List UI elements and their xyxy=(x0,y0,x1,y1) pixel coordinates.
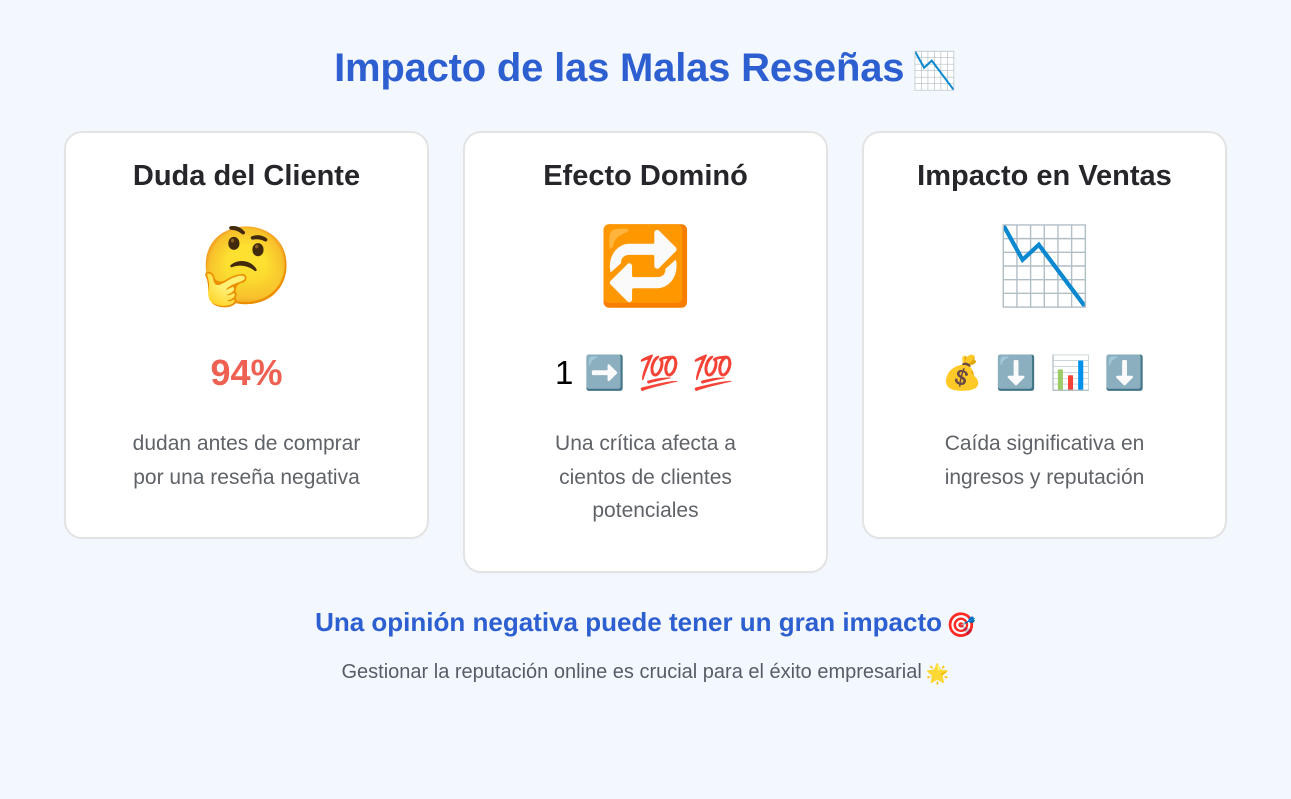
stat-number-emoji: 1 xyxy=(555,356,574,389)
footer-headline: Una opinión negativa puede tener un gran… xyxy=(315,607,976,641)
cards-row: Duda del Cliente 🤔 94% dudan antes de co… xyxy=(64,131,1227,573)
stat-emoji-row: 💰 ⬇️ 📊 ⬇️ xyxy=(942,356,1148,389)
card-stat: 1 ➡️ 💯 💯 xyxy=(555,347,736,399)
page-title: Impacto de las Malas Reseñas📉 xyxy=(334,0,957,92)
card-title: Impacto en Ventas xyxy=(917,159,1172,194)
stat-emoji-row: ➡️ 💯 💯 xyxy=(584,356,736,389)
page-title-text: Impacto de las Malas Reseñas xyxy=(334,46,904,90)
chart-decreasing-icon: 📉 xyxy=(997,221,1092,313)
thinking-face-icon: 🤔 xyxy=(199,221,294,313)
card-description: Una crítica afecta a cientos de clientes… xyxy=(521,427,771,528)
card-title: Duda del Cliente xyxy=(133,159,360,194)
card-description: dudan antes de comprar por una reseña ne… xyxy=(122,427,372,494)
stat-value: 94% xyxy=(210,355,282,391)
glowing-star-icon: 🌟 xyxy=(926,664,950,685)
card-stat: 94% xyxy=(210,347,282,399)
card-stat: 💰 ⬇️ 📊 ⬇️ xyxy=(942,347,1148,399)
footer-subtext: Gestionar la reputación online es crucia… xyxy=(342,641,950,687)
card-sales-impact[interactable]: Impacto en Ventas 📉 💰 ⬇️ 📊 ⬇️ Caída sign… xyxy=(862,131,1227,539)
card-domino-effect[interactable]: Efecto Dominó 🔁 1 ➡️ 💯 💯 Una crítica afe… xyxy=(463,131,828,573)
card-customer-doubt[interactable]: Duda del Cliente 🤔 94% dudan antes de co… xyxy=(64,131,429,539)
card-title: Efecto Dominó xyxy=(543,159,748,194)
repeat-icon: 🔁 xyxy=(598,221,693,313)
footer-subtext-text: Gestionar la reputación online es crucia… xyxy=(342,661,922,683)
bullseye-icon: 🎯 xyxy=(946,612,976,639)
chart-decreasing-icon: 📉 xyxy=(912,50,957,91)
infographic-page: Impacto de las Malas Reseñas📉 Duda del C… xyxy=(0,0,1291,799)
footer-headline-text: Una opinión negativa puede tener un gran… xyxy=(315,607,942,637)
card-description: Caída significativa en ingresos y reputa… xyxy=(920,427,1170,494)
footer: Una opinión negativa puede tener un gran… xyxy=(315,607,976,687)
